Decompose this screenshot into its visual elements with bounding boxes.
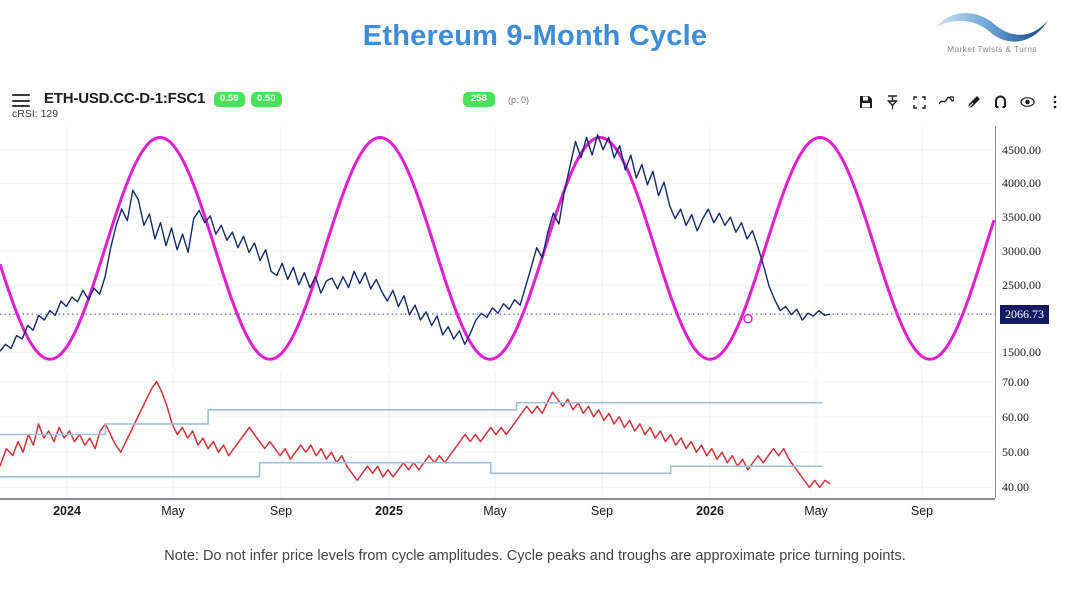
toolbar-icon-group	[858, 89, 1062, 115]
price-axis-tick: 3000.00	[1002, 244, 1041, 259]
rsi-panel[interactable]	[0, 371, 995, 498]
x-axis-tick: Sep	[270, 504, 292, 518]
draw-pencil-icon[interactable]	[966, 94, 981, 110]
price-axis-tick: 1500.00	[1002, 345, 1041, 360]
price-axis-tick: 3500.00	[1002, 210, 1041, 225]
x-axis-tick: 2026	[696, 504, 724, 518]
x-axis-labels: 2024MaySep2025MaySep2026MaySep	[0, 504, 995, 526]
x-axis-line	[0, 498, 995, 500]
x-axis-tick: May	[483, 504, 507, 518]
footer-note: Note: Do not infer price levels from cyc…	[0, 548, 1070, 564]
status-badge-1[interactable]: 0.59	[214, 92, 245, 107]
rsi-axis-tick: 60.00	[1002, 410, 1029, 425]
page-header: Ethereum 9-Month Cycle Market Twists & T…	[0, 0, 1070, 82]
param-label: (p: 0)	[508, 95, 529, 105]
price-axis-tick: 4500.00	[1002, 143, 1041, 158]
page-title: Ethereum 9-Month Cycle	[0, 20, 1070, 53]
price-axis-divider	[995, 126, 996, 498]
price-axis-tick: 2500.00	[1002, 278, 1041, 293]
rsi-axis-tick: 70.00	[1002, 375, 1029, 390]
fullscreen-icon[interactable]	[912, 94, 927, 110]
save-icon[interactable]	[858, 94, 873, 110]
crsi-value-label: cRSI: 129	[12, 108, 58, 120]
price-panel[interactable]	[0, 126, 995, 366]
status-badge-3[interactable]: 258	[463, 92, 495, 107]
x-axis-tick: Sep	[591, 504, 613, 518]
pin-icon[interactable]	[885, 94, 900, 110]
rsi-axis-tick: 40.00	[1002, 480, 1029, 495]
x-axis-tick: May	[161, 504, 185, 518]
chart-toolbar: ETH-USD.CC-D-1:FSC1 cRSI: 129 0.59 0.50 …	[0, 84, 1070, 126]
more-options-icon[interactable]	[1047, 94, 1062, 110]
magnet-icon[interactable]	[993, 94, 1008, 110]
status-badge-2[interactable]: 0.50	[251, 92, 282, 107]
trend-indicator-icon[interactable]	[939, 94, 954, 110]
chart-canvas[interactable]: 4500.004000.003500.003000.002500.001500.…	[0, 126, 1070, 510]
brand-name: Market Twists & Turns	[932, 44, 1052, 54]
symbol-label[interactable]: ETH-USD.CC-D-1:FSC1	[44, 90, 205, 107]
price-axis-tick: 4000.00	[1002, 176, 1041, 191]
x-axis-tick: May	[804, 504, 828, 518]
x-axis-tick: 2025	[375, 504, 403, 518]
hamburger-menu-icon[interactable]	[12, 94, 30, 108]
rsi-axis-tick: 50.00	[1002, 445, 1029, 460]
current-price-badge: 2066.73	[1000, 305, 1049, 324]
eye-visibility-icon[interactable]	[1020, 94, 1035, 110]
x-axis-tick: 2024	[53, 504, 81, 518]
x-axis-tick: Sep	[911, 504, 933, 518]
